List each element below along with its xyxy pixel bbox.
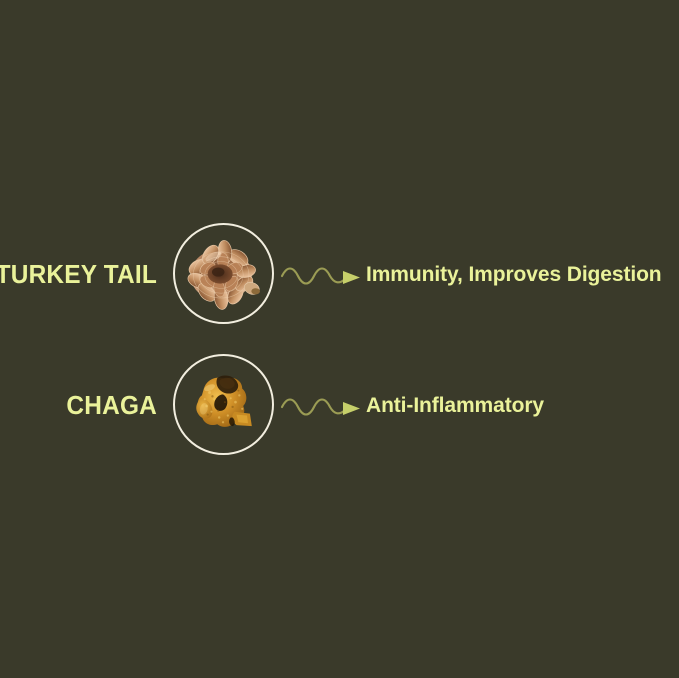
chaga-mushroom-icon	[175, 356, 272, 453]
benefit-row-chaga: CHAGA	[0, 349, 679, 461]
benefit-label-turkey-tail: Immunity, Improves Digestion	[366, 218, 662, 330]
benefit-row-turkey-tail: TURKEY TAIL	[0, 218, 679, 330]
turkey-tail-mushroom-icon	[175, 225, 272, 322]
wavy-arrow-right-icon-turkey-tail	[280, 252, 366, 296]
mushroom-name-turkey-tail: TURKEY TAIL	[9, 218, 157, 330]
thumbnail-circle-chaga	[173, 354, 274, 455]
benefit-label-chaga: Anti-Inflammatory	[366, 349, 544, 461]
mushroom-name-chaga: CHAGA	[9, 349, 157, 461]
wavy-arrow-right-icon-chaga	[280, 383, 366, 427]
thumbnail-circle-turkey-tail	[173, 223, 274, 324]
mushroom-benefits-infographic: TURKEY TAIL	[0, 0, 679, 678]
